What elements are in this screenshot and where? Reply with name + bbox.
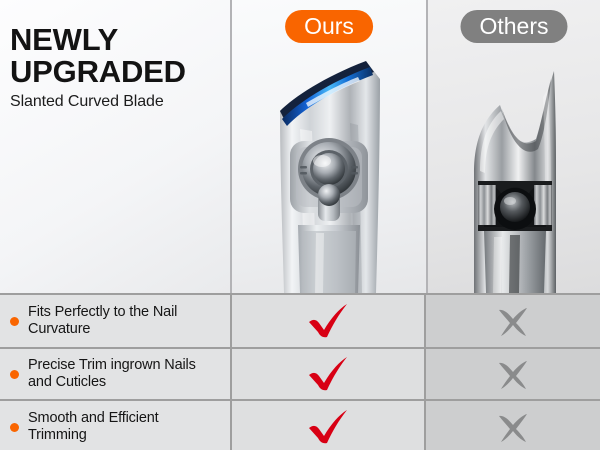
feature-label-line-1: Precise Trim ingrown Nails (28, 357, 196, 373)
cross-icon (496, 358, 530, 390)
others-product-image (428, 53, 600, 293)
feature-label: Fits Perfectly to the Nail Curvature (28, 304, 177, 337)
comparison-infographic: NEWLY UPGRADED Slanted Curved Blade Ours (0, 0, 600, 450)
feature-cell: Smooth and Efficient Trimming (0, 401, 230, 450)
ours-badge: Ours (285, 10, 373, 43)
table-row: Precise Trim ingrown Nails and Cuticles (0, 347, 600, 399)
feature-label-line-2: and Cuticles (28, 374, 106, 390)
headline-column: NEWLY UPGRADED Slanted Curved Blade (0, 0, 230, 293)
ours-result-cell (230, 349, 424, 399)
comparison-table: Fits Perfectly to the Nail Curvature (0, 293, 600, 450)
table-row: Fits Perfectly to the Nail Curvature (0, 295, 600, 347)
feature-cell: Fits Perfectly to the Nail Curvature (0, 295, 230, 347)
others-result-cell (424, 295, 600, 347)
headline-subtitle: Slanted Curved Blade (10, 93, 225, 111)
ours-result-cell (230, 295, 424, 347)
feature-label: Precise Trim ingrown Nails and Cuticles (28, 357, 196, 390)
ours-result-cell (230, 401, 424, 450)
feature-label: Smooth and Efficient Trimming (28, 410, 159, 443)
top-section: NEWLY UPGRADED Slanted Curved Blade Ours (0, 0, 600, 293)
headline-line-2: UPGRADED (10, 56, 225, 88)
bullet-icon (10, 317, 19, 326)
table-row: Smooth and Efficient Trimming (0, 399, 600, 450)
cross-icon (496, 411, 530, 443)
ours-column-header: Ours (230, 0, 426, 293)
feature-cell: Precise Trim ingrown Nails and Cuticles (0, 349, 230, 399)
headline-block: NEWLY UPGRADED Slanted Curved Blade (10, 24, 225, 111)
feature-label-line-2: Trimming (28, 427, 87, 443)
ours-product-image (232, 53, 426, 293)
check-icon (306, 356, 350, 392)
feature-label-line-2: Curvature (28, 321, 90, 337)
ours-clipper-illustration (254, 53, 404, 293)
check-icon (306, 303, 350, 339)
others-clipper-illustration (444, 53, 584, 293)
others-column-header: Others (426, 0, 600, 293)
others-result-cell (424, 401, 600, 450)
headline-line-1: NEWLY (10, 24, 225, 56)
bullet-icon (10, 370, 19, 379)
feature-label-line-1: Smooth and Efficient (28, 410, 159, 426)
cross-icon (496, 305, 530, 337)
bullet-icon (10, 423, 19, 432)
others-result-cell (424, 349, 600, 399)
feature-label-line-1: Fits Perfectly to the Nail (28, 304, 177, 320)
others-badge: Others (460, 10, 567, 43)
check-icon (306, 409, 350, 445)
